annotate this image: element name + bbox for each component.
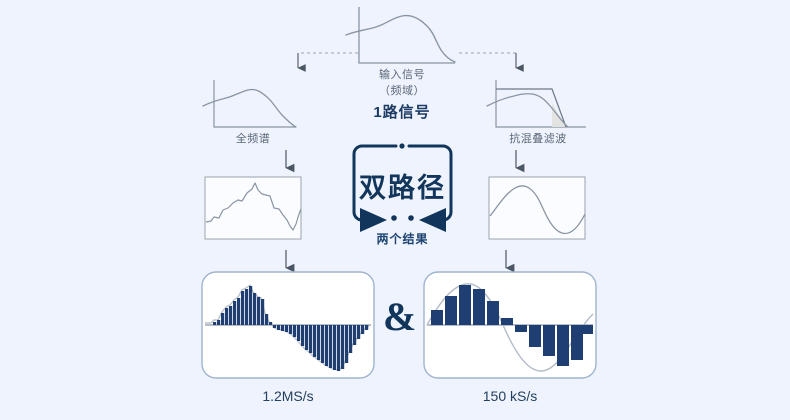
result-panel-right	[424, 272, 596, 378]
input-signal-caption-line2: （频域）	[347, 82, 457, 98]
input-signal-subtitle: 1路信号	[347, 101, 457, 122]
full-spectrum-chart	[203, 80, 296, 127]
result-label-left: 1.2MS/s	[208, 388, 368, 404]
result-panel-left	[202, 272, 374, 378]
branch-connector-right	[459, 53, 516, 68]
conjunction-ampersand: &	[383, 297, 416, 337]
diagram-vector-layer	[0, 0, 790, 420]
noisy-waveform-panel	[205, 177, 301, 239]
clean-sine-panel	[489, 177, 585, 239]
result-label-right: 150 kS/s	[430, 388, 590, 404]
dual-path-title: 双路径	[354, 166, 451, 205]
anti-alias-filter-chart	[487, 80, 586, 127]
input-signal-caption-line1: 输入信号	[347, 66, 457, 82]
full-spectrum-label: 全频谱	[210, 130, 296, 146]
diagram-canvas: 输入信号 （频域） 1路信号 全频谱 抗混叠滤波 双路径 两个结果 & 1.2M…	[0, 0, 790, 420]
anti-alias-filter-label: 抗混叠滤波	[486, 130, 590, 146]
two-results-caption: 两个结果	[352, 230, 453, 247]
input-signal-spectrum-chart	[346, 7, 455, 63]
